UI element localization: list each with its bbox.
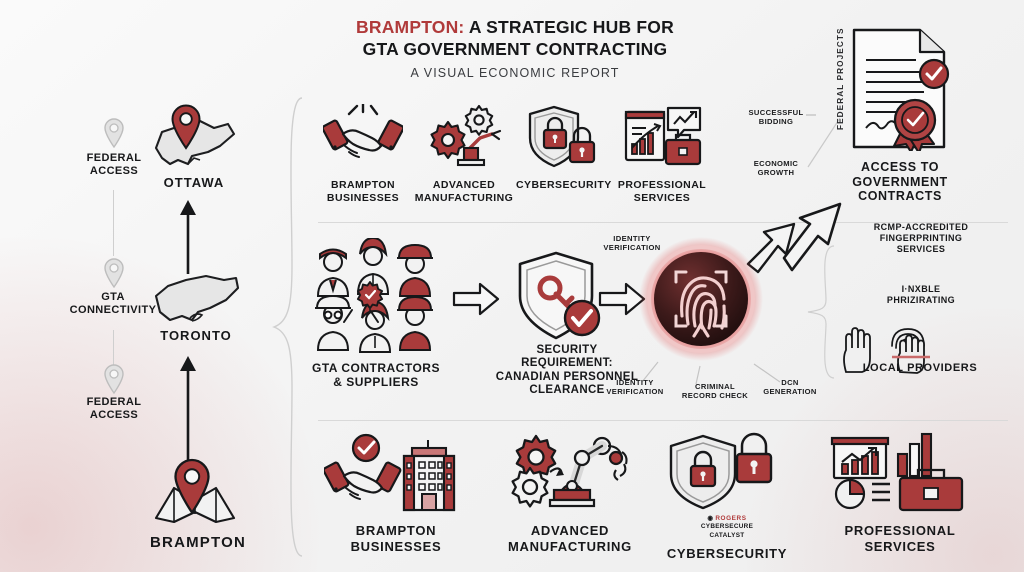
chart-briefcase-icon <box>620 104 704 170</box>
top-item-advanced-manufacturing[interactable]: ADVANCED MANUFACTURING <box>412 104 516 205</box>
top-item-professional-services[interactable]: PROFESSIONAL SERVICES <box>612 104 712 205</box>
arrow-up-brampton-toronto <box>176 352 200 465</box>
label-federal-projects: FEDERAL PROJECTS <box>836 27 845 130</box>
fingerprint-scan-icon <box>638 236 764 367</box>
callout-identity-verification: IDENTITY VERIFICATION <box>600 378 670 397</box>
map-pin-icon <box>103 258 125 293</box>
contract-document-seal-icon <box>846 26 956 156</box>
left-connector-1 <box>113 190 114 256</box>
bottom-item-professional-services[interactable]: PROFESSIONAL SERVICES <box>820 432 980 556</box>
top-item-label-3: PROFESSIONAL SERVICES <box>612 179 712 205</box>
map-pin-red-icon <box>170 104 202 155</box>
middle-step1-label: GTA CONTRACTORS & SUPPLIERS <box>300 362 452 390</box>
arrow-right-1-icon <box>452 282 500 316</box>
bottom-item-label-3: PROFESSIONAL SERVICES <box>820 523 980 556</box>
service-garbled-label: I·NXBLE PHRIZIRATING <box>828 284 1014 306</box>
handshake-icon <box>323 104 403 170</box>
title-line-2: GTA GOVERNMENT CONTRACTING <box>300 38 730 60</box>
callout-criminal-record-check: CRIMINAL RECORD CHECK <box>676 382 754 401</box>
infographic-canvas: BRAMPTON: A STRATEGIC HUB FOR GTA GOVERN… <box>0 0 1024 572</box>
services-bracket <box>804 244 838 380</box>
page-title: BRAMPTON: A STRATEGIC HUB FOR GTA GOVERN… <box>300 16 730 80</box>
divider-2 <box>318 420 1008 421</box>
map-pin-icon <box>103 364 125 399</box>
gear-robot-arm-icon <box>422 104 506 170</box>
top-item-cybersecurity[interactable]: CYBERSECURITY <box>516 104 610 192</box>
title-line-1: BRAMPTON: A STRATEGIC HUB FOR <box>300 16 730 38</box>
handshake-building-icon <box>324 432 468 512</box>
top-item-label-0: BRAMPTON BUSINESSES <box>314 179 412 205</box>
service-rcmp-fingerprinting: RCMP-ACCREDITED FINGERPRINTING SERVICES <box>828 222 1014 255</box>
bottom-item-advanced-manufacturing[interactable]: ADVANCED MANUFACTURING <box>492 432 648 556</box>
map-pin-red-icon <box>172 458 212 521</box>
bottom-item-label-2: CYBERSECURITY <box>648 546 806 562</box>
label-local-providers: LOCAL PROVIDERS <box>820 362 1020 375</box>
shield-padlock-icon <box>524 104 602 170</box>
gears-robot-arm-icon <box>504 432 636 512</box>
bottom-item-label-0: BRAMPTON BUSINESSES <box>316 523 476 556</box>
left-node-label-3: FEDERAL ACCESS <box>64 396 164 422</box>
callout-identity-verification-top: IDENTITY VERIFICATION <box>600 234 664 253</box>
rogers-cybersecure-badge: ◉ ROGERS CYBERSECURE CATALYST <box>648 515 806 540</box>
shield-padlocks-icon <box>663 432 791 512</box>
label-successful-bidding: SUCCESSFUL BIDDING <box>740 108 812 127</box>
contractors-group-icon <box>312 238 440 361</box>
rogers-logo-icon: ◉ <box>707 515 713 522</box>
bottom-item-label-1: ADVANCED MANUFACTURING <box>492 523 648 556</box>
top-item-label-1: ADVANCED MANUFACTURING <box>412 179 516 205</box>
charts-briefcase-icon <box>830 432 970 512</box>
top-item-label-2: CYBERSECURITY <box>516 179 610 192</box>
title-highlight: BRAMPTON: <box>356 17 464 37</box>
shield-key-check-icon <box>512 250 608 351</box>
city-label-toronto: TORONTO <box>150 328 242 343</box>
top-item-brampton-businesses[interactable]: BRAMPTON BUSINESSES <box>314 104 412 205</box>
city-label-ottawa: OTTAWA <box>148 175 240 190</box>
title-rest: A STRATEGIC HUB FOR <box>464 17 673 37</box>
arrow-up-toronto-ottawa <box>176 196 200 279</box>
subtitle: A VISUAL ECONOMIC REPORT <box>300 66 730 80</box>
section-brace <box>272 96 306 558</box>
bottom-item-brampton-businesses[interactable]: BRAMPTON BUSINESSES <box>316 432 476 556</box>
callout-dcn-generation: DCN GENERATION <box>756 378 824 397</box>
map-pin-icon <box>103 118 125 153</box>
contract-label: ACCESS TO GOVERNMENT CONTRACTS <box>830 160 970 204</box>
city-label-brampton: BRAMPTON <box>140 534 256 551</box>
bottom-item-cybersecurity[interactable]: ◉ ROGERS CYBERSECURE CATALYST CYBERSECUR… <box>648 432 806 562</box>
